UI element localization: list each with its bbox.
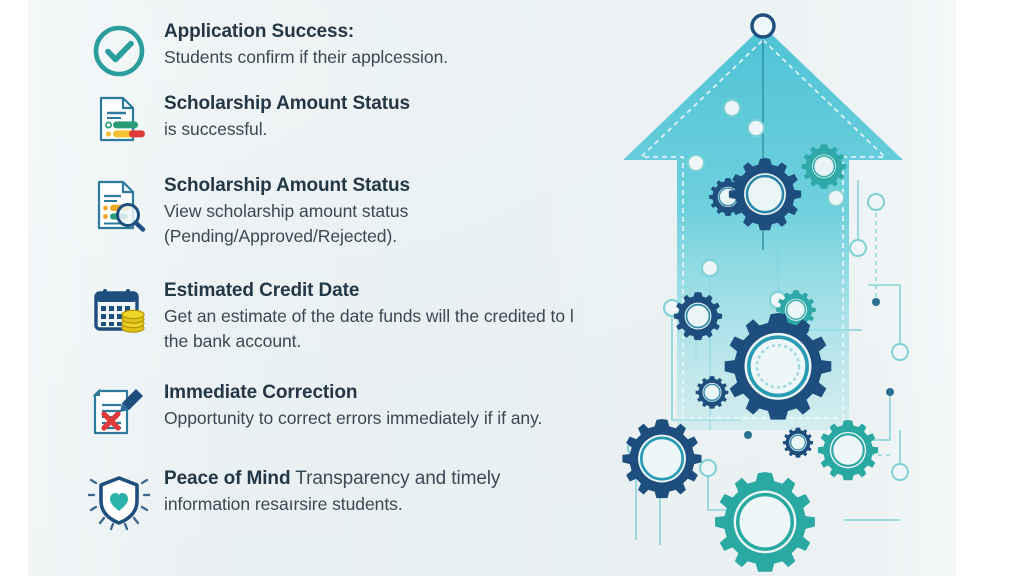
- list-item: Estimated Credit Date Get an estimate of…: [88, 277, 588, 354]
- list-item-body: Opportunity to correct errors immediatel…: [164, 406, 588, 431]
- list-item-heading: Scholarship Amount Status: [164, 91, 588, 116]
- list-item-body: Students confirm if their applcession.: [164, 45, 588, 70]
- list-item: Peace of Mind Transparency and timely in…: [88, 465, 588, 531]
- list-item: Scholarship Amount Status is successful.: [88, 90, 588, 150]
- shield-heart-icon: [88, 469, 150, 531]
- list-item-body: information resaırsire students.: [164, 492, 588, 517]
- list-item: Application Success: Students confirm if…: [88, 18, 588, 82]
- check-circle-icon: [88, 20, 150, 82]
- list-item-text: Estimated Credit Date Get an estimate of…: [150, 277, 588, 354]
- list-item-text: Peace of Mind Transparency and timely in…: [150, 465, 588, 517]
- list-item-heading: Immediate Correction: [164, 380, 588, 405]
- list-item-heading: Scholarship Amount Status: [164, 173, 588, 198]
- calendar-coins-icon: [88, 277, 150, 339]
- list-item-body: Get an estimate of the date funds will t…: [164, 304, 588, 354]
- list-item-body: View scholarship amount status (Pending/…: [164, 199, 588, 249]
- document-pencil-error-icon: [88, 381, 150, 443]
- list-item-text: Application Success: Students confirm if…: [150, 18, 588, 70]
- list-item-body: is successful.: [164, 117, 588, 142]
- list-item-text: Scholarship Amount Status is successful.: [150, 90, 588, 142]
- infographic-slide: Application Success: Students confirm if…: [0, 0, 1024, 576]
- list-item-heading: Estimated Credit Date: [164, 278, 588, 303]
- list-item-text: Immediate Correction Opportunity to corr…: [150, 379, 588, 431]
- list-item-text: Scholarship Amount Status View scholarsh…: [150, 172, 588, 249]
- document-magnifier-icon: [88, 174, 150, 236]
- feature-list: Application Success: Students confirm if…: [88, 18, 588, 563]
- list-item-heading: Peace of Mind Transparency and timely: [164, 466, 588, 491]
- list-item: Scholarship Amount Status View scholarsh…: [88, 172, 588, 249]
- list-item-heading: Application Success:: [164, 19, 588, 44]
- upward-arrow-gears-illustration: [600, 0, 956, 576]
- document-status-bars-icon: [88, 88, 150, 150]
- list-item: Immediate Correction Opportunity to corr…: [88, 379, 588, 443]
